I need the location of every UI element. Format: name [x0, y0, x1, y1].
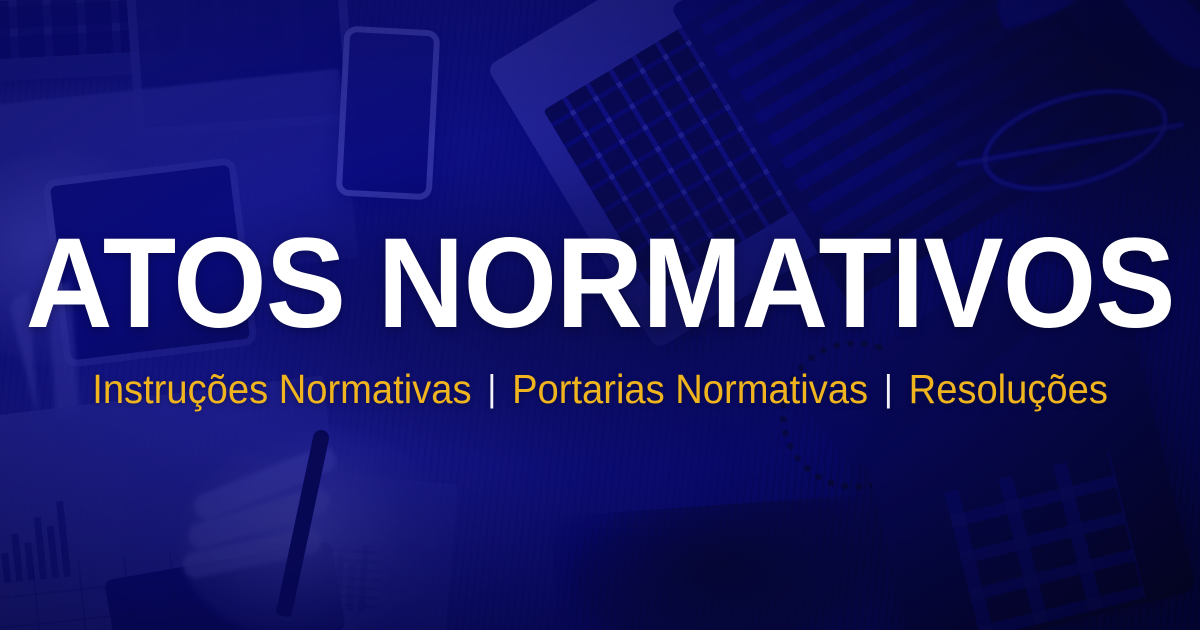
atos-normativos-banner: ATOS NORMATIVOS Instruções Normativas | …	[0, 0, 1200, 630]
banner-content: ATOS NORMATIVOS Instruções Normativas | …	[0, 0, 1200, 630]
subtitle-item-portarias-normativas: Portarias Normativas	[512, 369, 868, 410]
subtitle-separator: |	[487, 370, 496, 407]
page-title: ATOS NORMATIVOS	[25, 220, 1174, 348]
subtitle-list: Instruções Normativas | Portarias Normat…	[92, 369, 1108, 410]
subtitle-item-resolucoes: Resoluções	[909, 369, 1108, 410]
subtitle-item-instrucoes-normativas: Instruções Normativas	[92, 369, 471, 410]
subtitle-separator: |	[884, 370, 893, 407]
